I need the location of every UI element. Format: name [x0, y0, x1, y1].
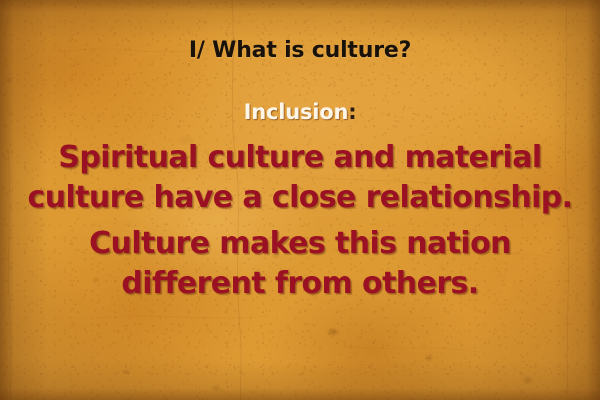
body-line: culture have a close relationship. — [0, 178, 600, 218]
slide-title: I/ What is culture? — [0, 38, 600, 63]
body-paragraph-1: Spiritual culture and material culture h… — [0, 138, 600, 218]
subheading-punctuation: : — [348, 100, 356, 124]
presentation-slide: I/ What is culture? Inclusion: Spiritual… — [0, 0, 600, 400]
subheading-label: Inclusion — [244, 100, 349, 124]
body-line: Spiritual culture and material — [0, 138, 600, 178]
body-paragraph-2: Culture makes this nation different from… — [0, 224, 600, 304]
body-line: different from others. — [0, 264, 600, 304]
slide-content: I/ What is culture? Inclusion: Spiritual… — [0, 0, 600, 400]
subheading: Inclusion: — [0, 100, 600, 124]
body-line: Culture makes this nation — [0, 224, 600, 264]
